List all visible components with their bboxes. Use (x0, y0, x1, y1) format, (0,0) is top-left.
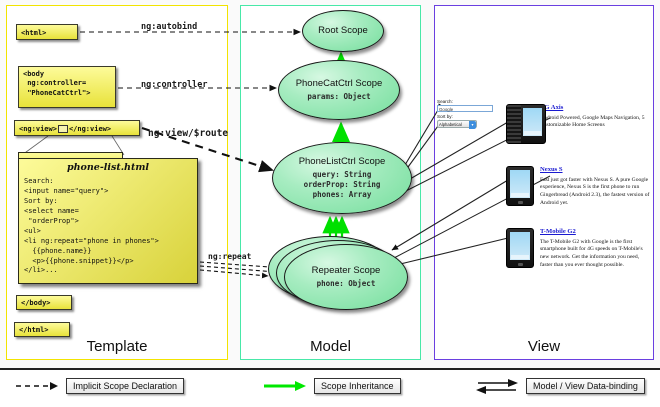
phone-thumbnail-icon (506, 228, 534, 268)
panel-model-label: Model (241, 338, 420, 355)
legend-item-implicit-scope: Implicit Scope Declaration (14, 378, 184, 394)
sort-select-value: Alphabetical (439, 122, 462, 127)
ngview-close-tag: </ng:view> (69, 125, 111, 133)
scope-repeater: Repeater Scope phone: Object (284, 244, 408, 310)
phone-snippet: The T-Mobile G2 with Google is the first… (540, 239, 652, 269)
ngview-placeholder-icon (58, 125, 68, 133)
panel-template-label: Template (7, 338, 227, 355)
sort-select[interactable]: Alphabetical ▾ (437, 120, 477, 128)
scope-root: Root Scope (302, 10, 384, 52)
phone-thumbnail-icon (506, 166, 534, 206)
list-item[interactable]: LG Axis Android Powered, Google Maps Nav… (506, 104, 652, 162)
dashed-arrow-icon (14, 380, 60, 392)
ngview-open-tag: <ng:view> (19, 125, 57, 133)
panel-view-label: View (435, 338, 653, 355)
edge-label-controller: ng:controller (141, 80, 208, 90)
scope-phonelistctrl: PhoneListCtrl Scope query: String orderP… (272, 142, 412, 214)
phone-name-link[interactable]: LG Axis (540, 104, 652, 112)
edge-label-autobind: ng:autobind (141, 22, 197, 32)
phone-thumbnail-icon (506, 104, 546, 144)
legend-label-scope-inheritance: Scope Inheritance (314, 378, 401, 394)
code-ngview: <ng:view></ng:view> (14, 120, 140, 136)
phone-snippet: Android Powered, Google Maps Navigation,… (540, 115, 652, 130)
scope-phonecatctrl: PhoneCatCtrl Scope params: Object (278, 60, 400, 120)
callout-code: Search: <input name="query"> Sort by: <s… (19, 175, 197, 278)
scope-root-name: Root Scope (318, 25, 368, 36)
legend: Implicit Scope Declaration Scope Inherit… (0, 368, 660, 407)
callout-phone-list-html: phone-list.html Search: <input name="que… (18, 158, 198, 284)
code-body-open: <body ng:controller= "PhoneCatCtrl"> (18, 66, 116, 108)
solid-arrow-icon (262, 380, 308, 392)
scope-phonelistctrl-name: PhoneListCtrl Scope (299, 156, 386, 167)
code-html-close: </html> (14, 322, 70, 337)
diagram-canvas: Template Model View (0, 0, 660, 405)
legend-item-data-binding: Model / View Data-binding (474, 378, 645, 394)
scope-repeater-props: phone: Object (317, 279, 376, 289)
code-body-close: </body> (16, 295, 72, 310)
view-search-form: Search: Google Sort by: Alphabetical ▾ (437, 99, 495, 128)
scope-phonecatctrl-name: PhoneCatCtrl Scope (296, 78, 383, 89)
phone-name-link[interactable]: T-Mobile G2 (540, 228, 652, 236)
callout-title: phone-list.html (19, 159, 197, 175)
phone-name-link[interactable]: Nexus S (540, 166, 652, 174)
search-input[interactable]: Google (437, 105, 493, 112)
list-item[interactable]: Nexus S Fast just got faster with Nexus … (506, 166, 652, 224)
list-item[interactable]: T-Mobile G2 The T-Mobile G2 with Google … (506, 228, 652, 286)
scope-phonelistctrl-props: query: String orderProp: String phones: … (304, 170, 381, 199)
legend-label-implicit-scope: Implicit Scope Declaration (66, 378, 184, 394)
legend-item-scope-inheritance: Scope Inheritance (262, 378, 401, 394)
phone-snippet: Fast just got faster with Nexus S. A pur… (540, 177, 652, 207)
phone-list: LG Axis Android Powered, Google Maps Nav… (506, 104, 652, 290)
double-arrow-icon (474, 378, 520, 394)
scope-repeater-name: Repeater Scope (312, 265, 381, 276)
code-html-open: <html> (16, 24, 78, 40)
edge-label-route: ng:view/$route (148, 128, 228, 139)
edge-label-repeat: ng:repeat (208, 252, 251, 261)
scope-phonecatctrl-props: params: Object (307, 92, 370, 102)
chevron-down-icon: ▾ (469, 121, 476, 129)
legend-label-data-binding: Model / View Data-binding (526, 378, 645, 394)
